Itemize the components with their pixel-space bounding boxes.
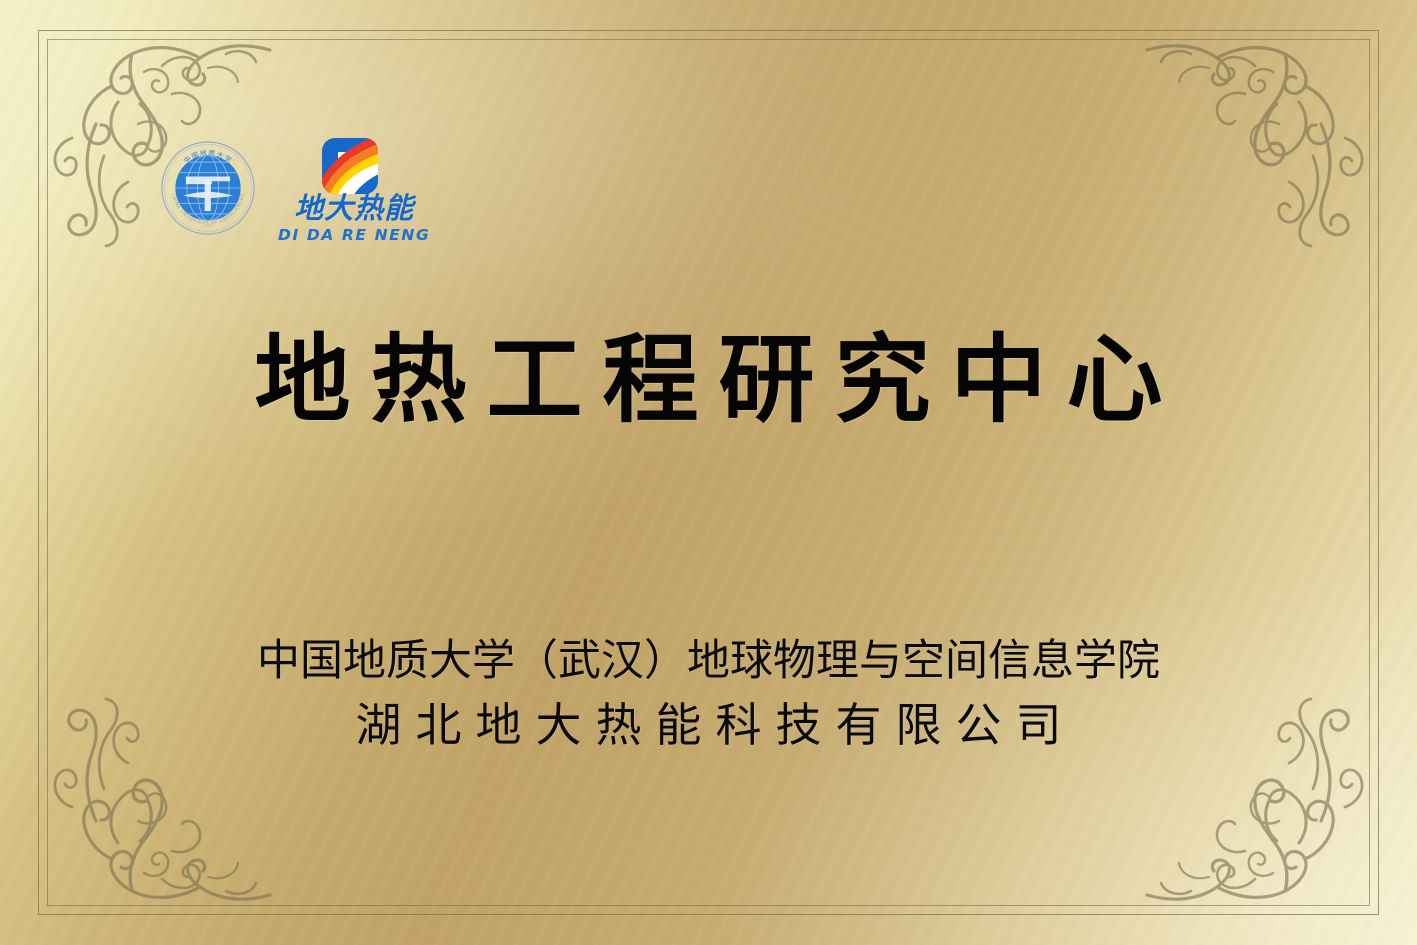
subtitle-company: 湖北地大热能科技有限公司 (0, 697, 1417, 755)
didareneng-chinese-name: 地大热能 (294, 194, 414, 224)
didareneng-logo: 地大热能 DI DA RE NENG (278, 136, 430, 244)
subtitle-university: 中国地质大学（武汉）地球物理与空间信息学院 (0, 636, 1417, 687)
logo-row: 中国地质大学 CHINA UNIVERSITY OF GEOSCIENCES 1… (160, 132, 430, 244)
didareneng-english-name: DI DA RE NENG (278, 226, 430, 244)
subtitle-block: 中国地质大学（武汉）地球物理与空间信息学院 湖北地大热能科技有限公司 (0, 636, 1417, 754)
university-seal-logo: 中国地质大学 CHINA UNIVERSITY OF GEOSCIENCES 1… (160, 140, 256, 236)
page-title: 地热工程研究中心 (0, 330, 1417, 431)
svg-text:1952: 1952 (203, 222, 213, 227)
didareneng-mark-icon (298, 136, 410, 196)
plaque-root: 中国地质大学 CHINA UNIVERSITY OF GEOSCIENCES 1… (0, 0, 1417, 945)
china-university-of-geosciences-seal-icon: 中国地质大学 CHINA UNIVERSITY OF GEOSCIENCES 1… (160, 140, 256, 236)
